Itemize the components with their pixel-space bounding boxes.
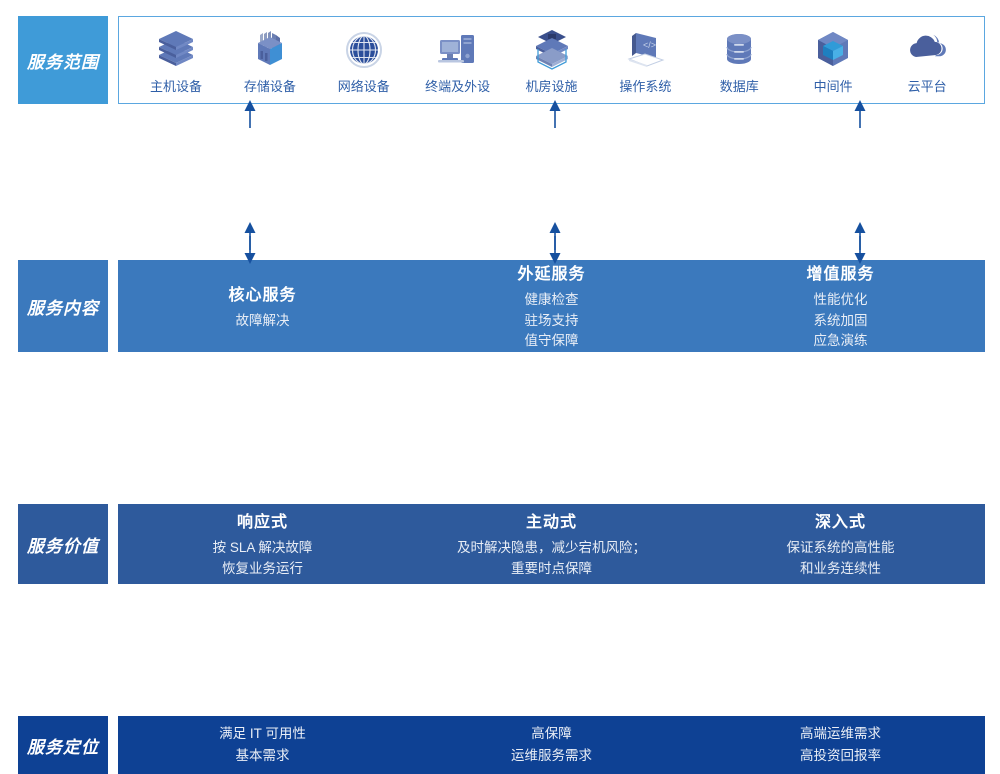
operating-system-icon: </> [623,28,667,72]
cell-line: 恢复业务运行 [222,559,303,580]
scope-item-cloud[interactable]: 云平台 [880,28,974,95]
connector-arrow-scope-to-content-3 [853,100,867,128]
service-framework-diagram: 服务范围 [0,0,1000,424]
scope-item-label: 终端及外设 [425,76,490,95]
cell-line: 高投资回报率 [800,745,881,767]
cell-line: 满足 IT 可用性 [219,723,306,745]
svg-text:</>: </> [643,40,656,50]
scope-item-label: 操作系统 [619,76,671,95]
scope-item-middleware[interactable]: 中间件 [786,28,880,95]
scope-item-label: 网络设备 [338,76,390,95]
storage-array-icon [250,28,290,72]
cell-line: 应急演练 [814,331,868,352]
scope-item-label: 机房设施 [526,76,578,95]
value-cell-indepth[interactable]: 深入式 保证系统的高性能 和业务连续性 [696,504,985,584]
service-value-cells: 响应式 按 SLA 解决故障 恢复业务运行 主动式 及时解决隐患，减少宕机风险；… [118,504,985,584]
scope-item-endpoint[interactable]: 终端及外设 [411,28,505,95]
desktop-peripheral-icon [436,28,480,72]
row-label-service-scope: 服务范围 [18,16,108,104]
scope-item-storage[interactable]: 存储设备 [223,28,317,95]
scope-item-label: 中间件 [814,76,853,95]
scope-item-os[interactable]: </> 操作系统 [598,28,692,95]
cell-line: 保证系统的高性能 [787,538,895,559]
cell-line: 值守保障 [525,331,579,352]
scope-item-label: 存储设备 [244,76,296,95]
connector-arrow-value-to-position-2 [548,236,562,264]
cell-title: 响应式 [237,508,288,532]
row-service-value: 服务价值 响应式 按 SLA 解决故障 恢复业务运行 主动式 及时解决隐患，减少… [0,252,1000,332]
server-stack-icon [156,28,196,72]
cell-line: 高保障 [531,723,572,745]
row-service-scope: 服务范围 [0,8,1000,96]
cell-title: 深入式 [815,508,866,532]
cloud-platform-icon [905,28,949,72]
scope-item-network[interactable]: 网络设备 [317,28,411,95]
connector-arrow-value-to-position-3 [853,236,867,264]
cell-line: 和业务连续性 [800,559,881,580]
row-label-service-position: 服务定位 [18,716,108,774]
connector-arrow-scope-to-content-2 [548,100,562,128]
position-cell-assurance[interactable]: 高保障 运维服务需求 [407,719,696,770]
middleware-cube-icon [812,28,854,72]
scope-item-label: 云平台 [908,76,947,95]
scope-item-host[interactable]: 主机设备 [129,28,223,95]
cell-line: 运维服务需求 [511,745,592,767]
row-service-content: 服务内容 核心服务 故障解决 外延服务 健康检查 驻场支持 值守保障 增值服务 … [0,130,1000,222]
value-cell-proactive[interactable]: 主动式 及时解决隐患，减少宕机风险； 重要时点保障 [407,504,696,584]
service-position-cells: 满足 IT 可用性 基本需求 高保障 运维服务需求 高端运维需求 高投资回报率 [118,716,985,774]
cell-line: 及时解决隐患，减少宕机风险； [457,538,646,559]
database-icon [719,28,759,72]
cell-line: 基本需求 [236,745,290,767]
position-cell-basic[interactable]: 满足 IT 可用性 基本需求 [118,719,407,770]
globe-network-icon [344,28,384,72]
connector-arrow-value-to-position-1 [243,236,257,264]
cell-line: 高端运维需求 [800,723,881,745]
cell-title: 主动式 [526,508,577,532]
value-cell-reactive[interactable]: 响应式 按 SLA 解决故障 恢复业务运行 [118,504,407,584]
position-cell-premium[interactable]: 高端运维需求 高投资回报率 [696,719,985,770]
service-scope-items: 主机设备 [118,16,985,104]
connector-arrow-scope-to-content-1 [243,100,257,128]
cell-line: 重要时点保障 [511,559,592,580]
scope-item-label: 数据库 [720,76,759,95]
scope-item-label: 主机设备 [150,76,202,95]
scope-item-database[interactable]: 数据库 [692,28,786,95]
row-label-service-value: 服务价值 [18,504,108,584]
scope-item-datacenter[interactable]: 机房设施 [505,28,599,95]
row-service-position: 服务定位 满足 IT 可用性 基本需求 高保障 运维服务需求 高端运维需求 高投… [0,358,1000,416]
datacenter-facility-icon [530,28,574,72]
cell-line: 按 SLA 解决故障 [213,538,313,559]
